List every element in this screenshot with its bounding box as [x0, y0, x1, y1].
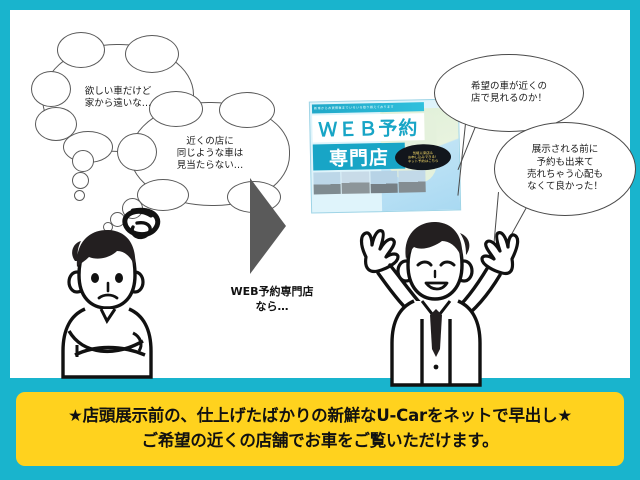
thought-tail-dot: [72, 172, 89, 189]
speech-balloon-2-text: 展示される前に 予約も出来て 売れちゃう心配も なくて良かった！: [527, 144, 603, 193]
illustration-panel: 欲しい車だけど 家から遠いな… 近くの店に 同じような車は 見当たらない…: [10, 10, 630, 378]
poster-photo: [313, 172, 341, 195]
promo-banner: ★店頭展示前の、仕上げたばかりの新鮮なU-Carをネットで早出し★ ご希望の近く…: [16, 392, 624, 466]
poster-photo: [370, 171, 398, 194]
poster-title-line1: ＷＥＢ予約: [312, 113, 425, 142]
eye-left: [91, 273, 99, 283]
thought-tail-dot: [72, 150, 94, 172]
thought-tail-dot: [74, 190, 85, 201]
right-arrow-icon: [250, 178, 286, 274]
eye-right: [115, 273, 123, 283]
web-reservation-poster: 新車からお買得車までいろいろ取り揃えております ＷＥＢ予約 専門店 気軽に来店＆…: [309, 98, 461, 213]
happy-man-illustration: [330, 215, 530, 387]
arrow-caption: WEB予約専門店 なら…: [198, 285, 346, 315]
poster-photo: [398, 170, 426, 193]
hand-left: [362, 231, 399, 272]
thought-bubble-1-text: 欲しい車だけど 家から遠いな…: [85, 86, 152, 110]
poster-title-line2: 専門店: [313, 143, 406, 171]
advertisement-frame: 欲しい車だけど 家から遠いな… 近くの店に 同じような車は 見当たらない…: [0, 0, 640, 480]
bubble-lobe: [117, 133, 157, 171]
poster-photo: [342, 171, 370, 194]
bubble-lobe: [31, 71, 71, 107]
worried-man-illustration: [55, 205, 205, 380]
speech-balloon-1-text: 希望の車が近くの 店で見れるのか！: [471, 81, 547, 106]
banner-line-1: ★店頭展示前の、仕上げたばかりの新鮮なU-Carをネットで早出し★: [68, 404, 572, 429]
poster-photo-strip: [313, 170, 425, 194]
speech-balloon-2: 展示される前に 予約も出来て 売れちゃう心配も なくて良かった！: [494, 122, 636, 216]
speech-balloon-1: 希望の車が近くの 店で見れるのか！: [434, 54, 584, 132]
thought-bubble-2-text: 近くの店に 同じような車は 見当たらない…: [177, 136, 244, 172]
banner-line-2: ご希望の近くの店舗でお車をご覧いただけます。: [142, 429, 499, 454]
